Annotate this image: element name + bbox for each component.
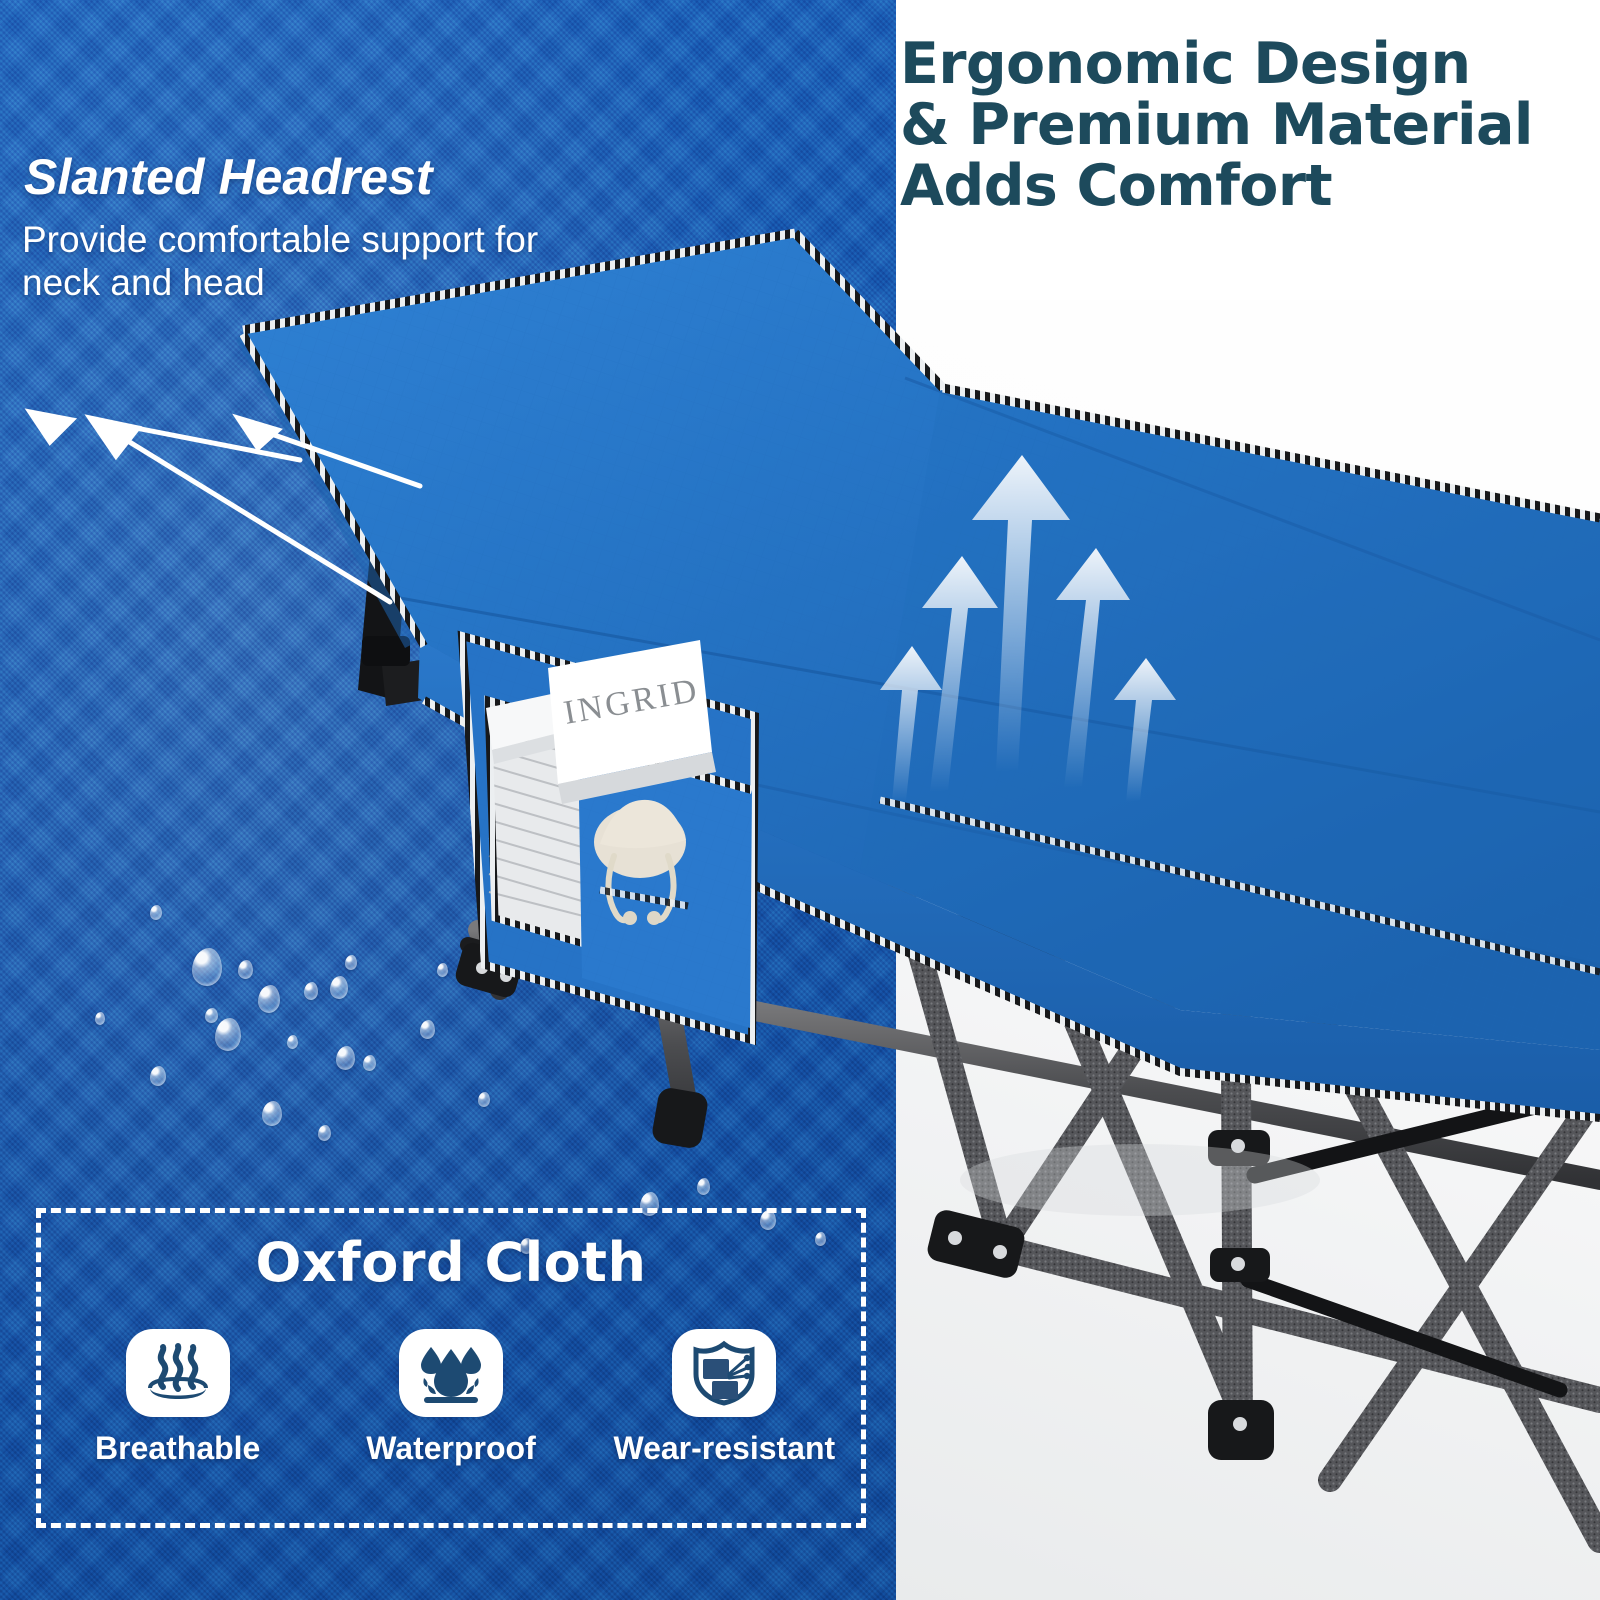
product-infographic: INGRID Ergonomic Design & Premium Materi… [0,0,1600,1600]
oxford-cloth-box: Oxford Cloth Breathable [36,1208,866,1528]
feature-waterproof: Waterproof [326,1329,576,1467]
waterproof-badge [399,1329,503,1417]
feature-label-breathable: Breathable [95,1430,260,1467]
feature-label-wear-resistant: Wear-resistant [613,1430,835,1467]
headrest-annotation-arrow-lower [60,380,440,620]
breathable-badge [126,1329,230,1417]
feature-wear-resistant: Wear-resistant [599,1329,849,1467]
water-drop-icon [414,1341,488,1405]
headline-line-2: & Premium Material [900,95,1600,156]
headline: Ergonomic Design & Premium Material Adds… [900,34,1600,217]
headline-line-1: Ergonomic Design [900,34,1600,95]
oxford-features-row: Breathable [41,1329,861,1519]
headrest-callout-title: Slanted Headrest [24,152,704,202]
oxford-cloth-title: Oxford Cloth [41,1231,861,1294]
wear-resistant-badge [672,1329,776,1417]
headrest-subtitle-line-1: Provide comfortable support for [22,218,622,261]
headline-line-3: Adds Comfort [900,156,1600,217]
feature-label-waterproof: Waterproof [366,1430,535,1467]
steam-icon [141,1341,215,1405]
shield-icon [688,1340,760,1406]
feature-breathable: Breathable [53,1329,303,1467]
